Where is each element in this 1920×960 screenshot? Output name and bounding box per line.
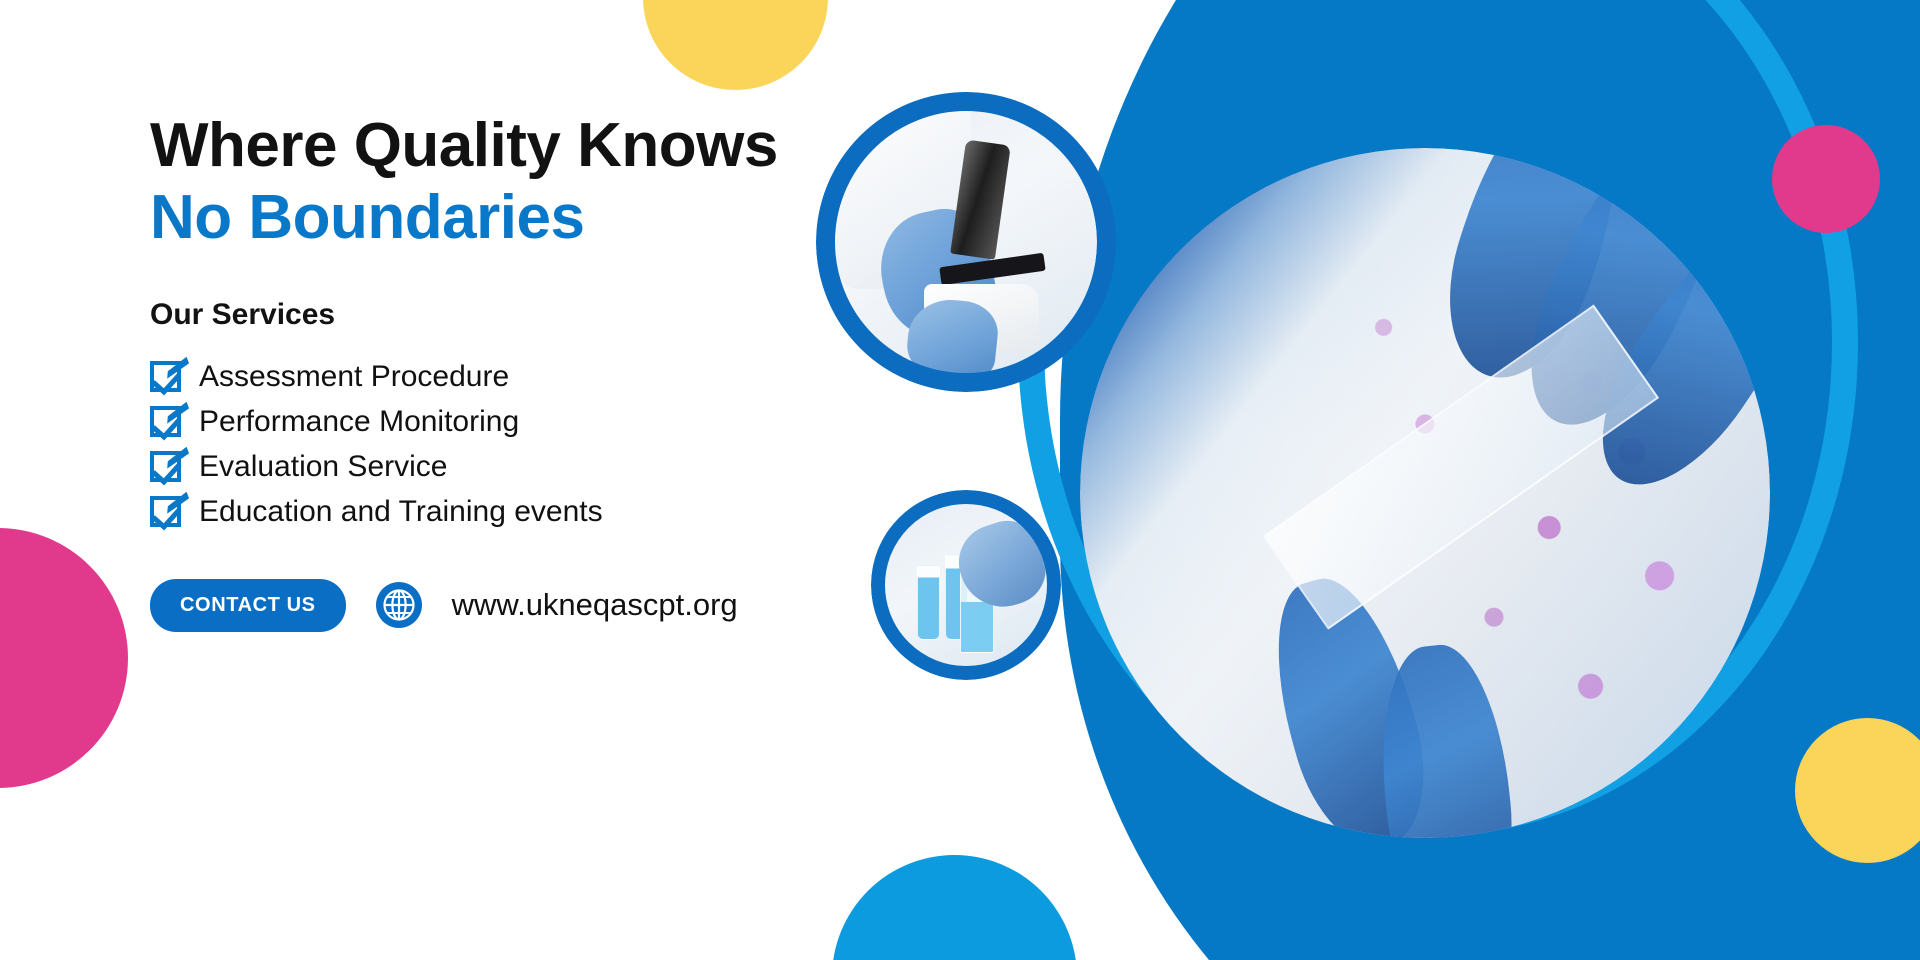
checkbox-checked-icon — [150, 496, 181, 527]
globe-icon — [376, 582, 422, 628]
service-label: Assessment Procedure — [199, 360, 509, 394]
list-item: Evaluation Service — [150, 450, 970, 484]
services-list: Assessment Procedure Performance Monitor… — [150, 360, 970, 529]
page-title: Where Quality Knows No Boundaries — [150, 110, 970, 254]
headline-line-2: No Boundaries — [150, 182, 970, 254]
services-heading: Our Services — [150, 298, 970, 332]
checkbox-checked-icon — [150, 451, 181, 482]
promo-banner: Where Quality Knows No Boundaries Our Se… — [0, 0, 1920, 960]
service-label: Performance Monitoring — [199, 405, 519, 439]
list-item: Assessment Procedure — [150, 360, 970, 394]
main-photo-image — [1080, 148, 1770, 838]
checkbox-checked-icon — [150, 406, 181, 437]
service-label: Evaluation Service — [199, 450, 447, 484]
service-label: Education and Training events — [199, 495, 603, 529]
list-item: Education and Training events — [150, 495, 970, 529]
yellow-circle-top — [643, 0, 828, 90]
footer-row: CONTACT US www.ukneqascpt.org — [150, 579, 970, 632]
headline-line-1: Where Quality Knows — [150, 110, 970, 182]
main-photo-slide-handling — [1080, 148, 1770, 838]
contact-us-button[interactable]: CONTACT US — [150, 579, 346, 632]
content-column: Where Quality Knows No Boundaries Our Se… — [150, 110, 970, 632]
checkbox-checked-icon — [150, 361, 181, 392]
list-item: Performance Monitoring — [150, 405, 970, 439]
pink-circle-left — [0, 528, 128, 788]
website-url[interactable]: www.ukneqascpt.org — [452, 587, 738, 623]
pink-circle-right — [1772, 125, 1880, 233]
blue-circle-bottom — [832, 855, 1077, 960]
